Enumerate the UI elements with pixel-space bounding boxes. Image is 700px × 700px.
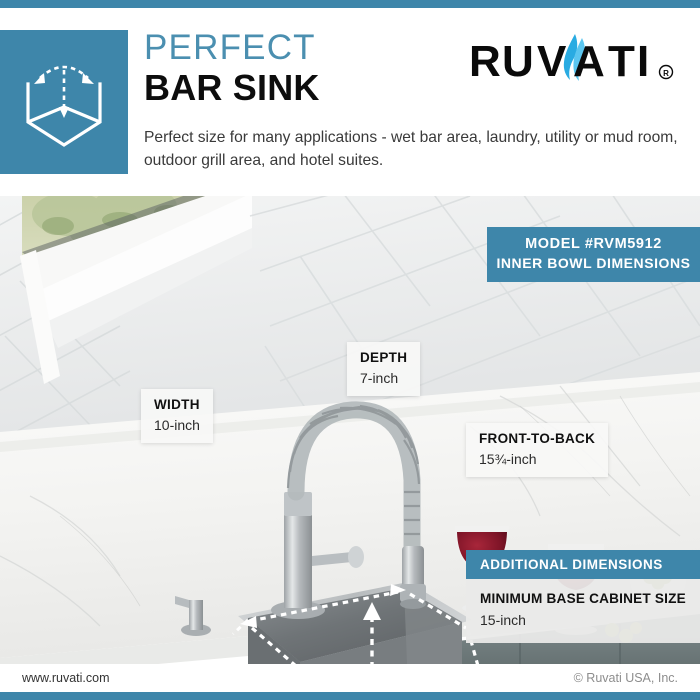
additional-dimensions-body: MINIMUM BASE CABINET SIZE 15-inch — [466, 579, 700, 643]
svg-text:R: R — [663, 69, 669, 78]
min-base-cabinet-value: 15-inch — [480, 611, 686, 629]
svg-text:V: V — [537, 37, 567, 86]
additional-dimensions-panel: ADDITIONAL DIMENSIONS MINIMUM BASE CABIN… — [466, 550, 700, 643]
svg-text:R: R — [469, 37, 500, 86]
additional-dimensions-header: ADDITIONAL DIMENSIONS — [466, 550, 700, 579]
title-line-2: BAR SINK — [144, 68, 320, 108]
svg-text:U: U — [502, 37, 533, 86]
callout-front-to-back-value: 15¾-inch — [479, 450, 595, 468]
model-badge: MODEL #RVM5912 INNER BOWL DIMENSIONS — [487, 227, 700, 282]
callout-width-value: 10-inch — [154, 416, 200, 434]
svg-text:I: I — [637, 37, 649, 86]
model-number: MODEL #RVM5912 — [487, 235, 700, 254]
footer-copyright: © Ruvati USA, Inc. — [574, 671, 678, 685]
svg-text:A: A — [573, 37, 604, 86]
header: PERFECT BAR SINK Perfect size for many a… — [0, 8, 700, 196]
callout-width-label: WIDTH — [154, 397, 200, 414]
model-subtitle: INNER BOWL DIMENSIONS — [487, 254, 700, 273]
min-base-cabinet-label: MINIMUM BASE CABINET SIZE — [480, 590, 686, 608]
top-accent-rule — [0, 0, 700, 8]
callout-front-to-back-label: FRONT-TO-BACK — [479, 431, 595, 448]
footer: www.ruvati.com © Ruvati USA, Inc. — [0, 664, 700, 692]
bottom-accent-rule — [0, 692, 700, 700]
callout-width: WIDTH 10-inch — [141, 389, 213, 443]
title-line-1: PERFECT — [144, 30, 320, 65]
callout-depth-label: DEPTH — [360, 350, 407, 367]
subtitle: Perfect size for many applications - wet… — [144, 126, 689, 172]
callout-depth: DEPTH 7-inch — [347, 342, 420, 396]
sink-bowl-dimension-icon — [0, 30, 128, 174]
footer-website[interactable]: www.ruvati.com — [22, 671, 110, 685]
product-spec-sheet: PERFECT BAR SINK Perfect size for many a… — [0, 0, 700, 700]
svg-text:T: T — [608, 37, 635, 86]
ruvati-logo: R U V A T I R — [469, 32, 684, 88]
callout-front-to-back: FRONT-TO-BACK 15¾-inch — [466, 423, 608, 477]
page-title: PERFECT BAR SINK — [144, 30, 320, 108]
callout-depth-value: 7-inch — [360, 369, 407, 387]
